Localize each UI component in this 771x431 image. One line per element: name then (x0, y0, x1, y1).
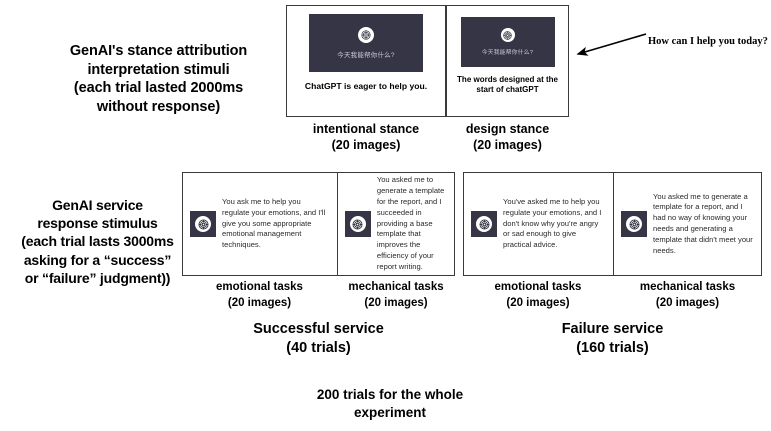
stance-caption-intentional: ChatGPT is eager to help you. (301, 81, 431, 92)
stance-section-label-line-3: (each trial lasted 2000ms (26, 79, 291, 98)
chatgpt-avatar (621, 211, 647, 237)
stance-under-label-design: design stance (20 images) (446, 121, 569, 154)
response-text-failure-mechanical: You asked me to generate a template for … (653, 192, 754, 257)
stance-under-title-design: design stance (446, 121, 569, 137)
openai-logo-icon (501, 28, 515, 42)
stance-under-count-intentional: (20 images) (286, 137, 446, 153)
response-text-failure-emotional: You've asked me to help you regulate you… (503, 197, 606, 251)
stance-section-label-line-1: GenAI's stance attribution (26, 42, 291, 61)
service-section-label-line-1: GenAI service (10, 196, 185, 214)
service-section-label-line-3: (each trial lasts 3000ms (10, 232, 185, 250)
stance-under-label-intentional: intentional stance (20 images) (286, 121, 446, 154)
service-summary-trials: (40 trials) (182, 339, 455, 358)
service-section-label-line-2: response stimulus (10, 214, 185, 232)
response-cell-failure-mechanical: You asked me to generate a template for … (613, 173, 761, 275)
service-section-label-line-5: or “failure” judgment)) (10, 269, 185, 287)
service-summary-successful: Successful service (40 trials) (182, 320, 455, 358)
chatgpt-screen-mock-design: 今天我能帮你什么? (461, 17, 555, 67)
openai-logo-icon (476, 216, 492, 232)
screen-prompt-text-intentional: 今天我能帮你什么? (337, 49, 394, 59)
task-label-failure-emotional: emotional tasks (20 images) (463, 280, 613, 311)
task-title: mechanical tasks (613, 280, 762, 296)
task-label-success-emotional: emotional tasks (20 images) (182, 280, 337, 311)
task-count: (20 images) (463, 296, 613, 312)
successful-service-group: You ask me to help you regulate your emo… (182, 172, 455, 276)
stance-section-label-line-2: interpretation stimuli (26, 61, 291, 80)
stance-under-count-design: (20 images) (446, 137, 569, 153)
stance-under-title-intentional: intentional stance (286, 121, 446, 137)
failure-service-group: You've asked me to help you regulate you… (463, 172, 762, 276)
annotation-text: How can I help you today? (648, 36, 768, 47)
openai-logo-icon (195, 216, 211, 232)
response-cell-failure-emotional: You've asked me to help you regulate you… (464, 173, 613, 275)
stance-card-intentional: 今天我能帮你什么? ChatGPT is eager to help you. (286, 5, 446, 117)
stance-card-design: 今天我能帮你什么? The words designed at the star… (446, 5, 569, 117)
task-count: (20 images) (613, 296, 762, 312)
total-trials-label: 200 trials for the whole experiment (250, 386, 530, 422)
response-cell-success-emotional: You ask me to help you regulate your emo… (183, 173, 337, 275)
task-title: mechanical tasks (337, 280, 455, 296)
screen-prompt-text-design: 今天我能帮你什么? (482, 47, 533, 56)
task-title: emotional tasks (463, 280, 613, 296)
response-text-success-mechanical: You asked me to generate a template for … (377, 175, 447, 272)
chatgpt-avatar (190, 211, 216, 237)
response-cell-success-mechanical: You asked me to generate a template for … (337, 173, 454, 275)
stance-section-label: GenAI's stance attribution interpretatio… (26, 42, 291, 116)
chatgpt-avatar (471, 211, 497, 237)
openai-logo-icon (626, 216, 642, 232)
service-summary-trials: (160 trials) (463, 339, 762, 358)
response-text-success-emotional: You ask me to help you regulate your emo… (222, 197, 330, 251)
openai-logo-icon (350, 216, 366, 232)
annotation-arrow-icon (570, 30, 650, 60)
stance-caption-design: The words designed at the start of chatG… (447, 75, 568, 95)
service-section-label-line-4: asking for a “success” (10, 251, 185, 269)
openai-logo-icon (358, 27, 374, 43)
task-count: (20 images) (337, 296, 455, 312)
total-trials-line-2: experiment (250, 404, 530, 422)
service-section-label: GenAI service response stimulus (each tr… (10, 196, 185, 287)
service-summary-failure: Failure service (160 trials) (463, 320, 762, 358)
service-summary-title: Failure service (463, 320, 762, 339)
task-title: emotional tasks (182, 280, 337, 296)
task-count: (20 images) (182, 296, 337, 312)
stance-stimuli-panel-group: 今天我能帮你什么? ChatGPT is eager to help you. (286, 5, 569, 117)
stance-section-label-line-4: without response) (26, 98, 291, 117)
task-label-success-mechanical: mechanical tasks (20 images) (337, 280, 455, 311)
chatgpt-avatar (345, 211, 371, 237)
service-summary-title: Successful service (182, 320, 455, 339)
total-trials-line-1: 200 trials for the whole (250, 386, 530, 404)
chatgpt-screen-mock-intentional: 今天我能帮你什么? (309, 14, 423, 72)
task-label-failure-mechanical: mechanical tasks (20 images) (613, 280, 762, 311)
